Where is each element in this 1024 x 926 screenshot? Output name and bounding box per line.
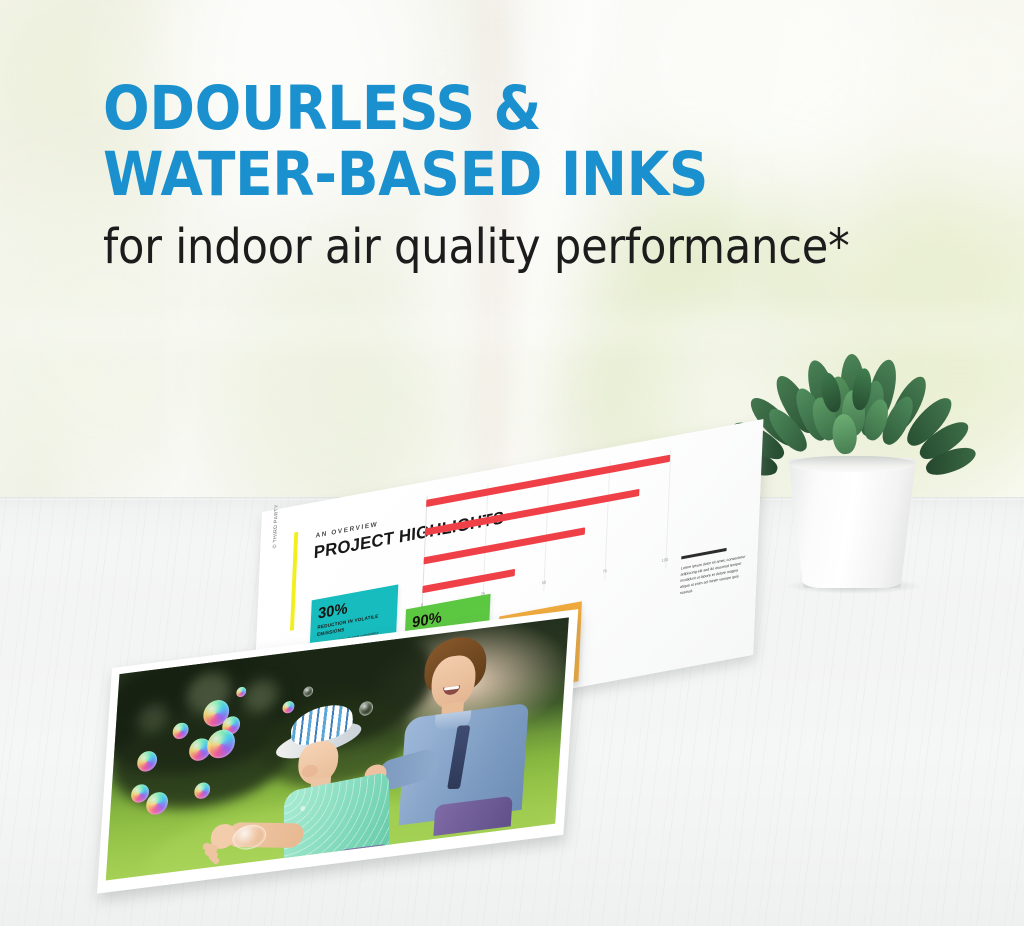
pot-rim: [788, 456, 916, 472]
flyer-eyebrow: © THIRD PARTY: [272, 504, 280, 549]
chart-tick-label: 100: [662, 557, 669, 563]
chart-tick-label: 50: [542, 579, 547, 585]
headline-line-2: WATER-BASED INKS: [103, 142, 983, 208]
chart-bar-row: [424, 527, 586, 564]
headline-subline: for indoor air quality performance*: [103, 218, 983, 276]
headline-line-1: ODOURLESS &: [103, 76, 983, 142]
chart-axis: [421, 496, 427, 614]
photo-figure-child: [263, 698, 423, 879]
chart-gridline: [604, 462, 610, 580]
chart-bar: [424, 527, 586, 564]
flyer-side-rule: [681, 548, 726, 559]
potted-plant: [758, 338, 944, 518]
chart-bar: [422, 569, 515, 593]
chart-gridline: [665, 450, 671, 568]
chart-gridline: [543, 473, 549, 591]
plant-pot: [788, 458, 916, 588]
flyer-side-copy: Lorem ipsum dolor sit amet, consectetur …: [680, 555, 746, 598]
scene-canvas: ODOURLESS & WATER-BASED INKS for indoor …: [0, 0, 1024, 926]
window-sill-icon: [0, 318, 1024, 340]
flyer-accent-bar: [290, 532, 298, 631]
chart-tick-label: 75: [603, 568, 608, 574]
bar-chart: 0 25 50 75 100: [421, 450, 672, 613]
headline-block: ODOURLESS & WATER-BASED INKS for indoor …: [103, 76, 983, 276]
chart-bar-row: [422, 569, 515, 593]
chart-gridline: [482, 484, 488, 602]
